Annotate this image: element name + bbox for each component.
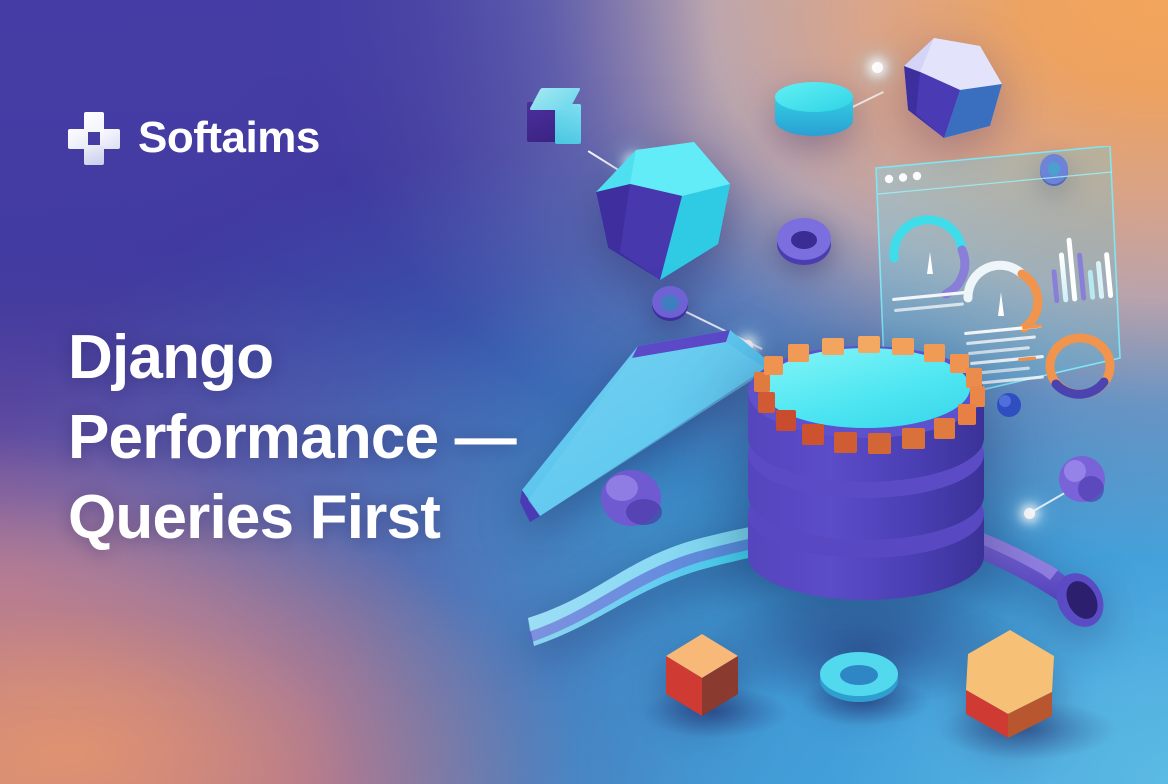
glow-dot-cylinder (872, 62, 883, 73)
page-title-line-1: Django (68, 318, 516, 398)
sphere-purple-icon (600, 468, 662, 526)
torus-purple-large-icon (775, 212, 833, 270)
hexagon-orange-icon (958, 628, 1066, 740)
cube-red-icon (664, 632, 742, 718)
sphere-navy-icon (996, 392, 1022, 418)
sphere-purple-small-icon (1058, 455, 1106, 503)
logo-square-bottom (84, 145, 104, 165)
page-title-line-3: Queries First (68, 478, 516, 558)
brand-lockup: Softaims (68, 112, 320, 164)
brand-name: Softaims (138, 116, 320, 160)
torus-purple-small-icon (650, 283, 690, 323)
database-cylinder-icon (742, 288, 990, 618)
plus-squares-icon (68, 112, 120, 164)
page-title: Django Performance — Queries First (68, 318, 516, 558)
cover-canvas: Softaims Django Performance — Queries Fi… (0, 0, 1168, 784)
page-title-line-2: Performance — (68, 398, 516, 478)
polyhedron-cyan-icon (590, 140, 740, 288)
torus-cyan-icon (818, 648, 900, 704)
polyhedron-lavender-icon (898, 32, 1008, 144)
cylinder-cyan-icon (775, 82, 853, 150)
cube-small-icon (527, 88, 587, 150)
